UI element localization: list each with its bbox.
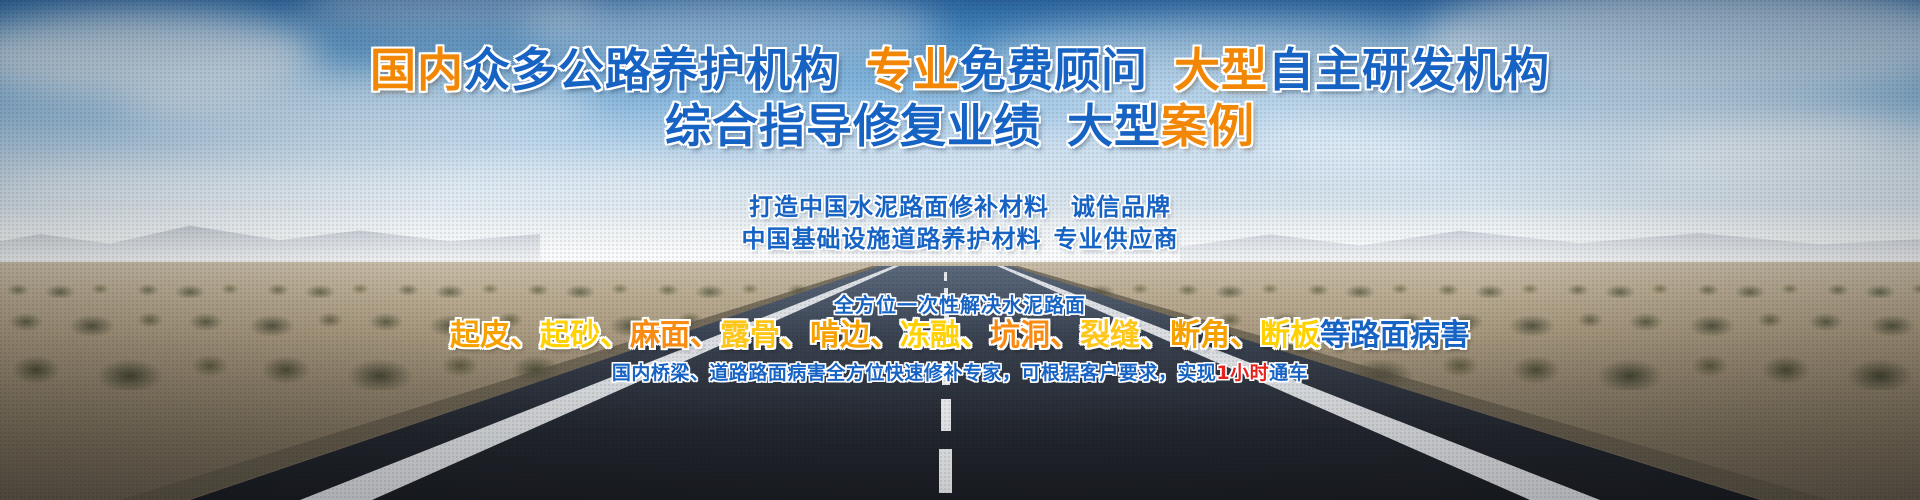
- bottom-lead-text: 全方位一次性解决水泥路面: [0, 292, 1920, 318]
- disease-token: 、: [780, 318, 810, 353]
- disease-token: 、: [510, 318, 540, 353]
- headline-line-1: 国内众多公路养护机构专业免费顾问大型自主研发机构: [0, 44, 1920, 96]
- footer-text-b: 通车: [1269, 362, 1308, 384]
- subhead-2-tail: 专业供应商: [1054, 225, 1179, 253]
- disease-token: 冻融: [900, 318, 960, 353]
- bottom-footer-text: 国内桥梁、道路路面病害全方位快速修补专家，可根据客户要求，实现1小时通车: [0, 360, 1920, 386]
- promo-banner: 国内众多公路养护机构专业免费顾问大型自主研发机构 综合指导修复业绩大型案例 打造…: [0, 0, 1920, 500]
- disease-list-items: 起皮、起砂、麻面、露骨、啃边、冻融、坑洞、裂缝、断角、断板: [450, 318, 1320, 353]
- disease-list: 起皮、起砂、麻面、露骨、啃边、冻融、坑洞、裂缝、断角、断板等路面病害: [0, 316, 1920, 356]
- headline-seg-zonghe: 综合指导修复业绩: [665, 99, 1041, 153]
- headline-seg-zizhu: 自主研发机构: [1268, 43, 1550, 97]
- disease-token: 、: [690, 318, 720, 353]
- disease-token: 啃边: [810, 318, 870, 353]
- headline-seg-zhongduo: 众多公路养护机构: [464, 43, 840, 97]
- disease-token: 断板: [1260, 318, 1320, 353]
- disease-token: 裂缝: [1080, 318, 1140, 353]
- headline-seg-daxing-2: 大型: [1067, 99, 1161, 153]
- subhead-line-1: 打造中国水泥路面修补材料诚信品牌: [0, 192, 1920, 222]
- disease-token: 起砂: [540, 318, 600, 353]
- disease-token: 、: [1140, 318, 1170, 353]
- disease-token: 、: [960, 318, 990, 353]
- headline-seg-mianfei: 免费顾问: [960, 43, 1148, 97]
- headline-line-2: 综合指导修复业绩大型案例: [0, 100, 1920, 152]
- headline-seg-zhuanye: 专业: [866, 43, 960, 97]
- disease-token: 露骨: [720, 318, 780, 353]
- headline-seg-daxing: 大型: [1174, 43, 1268, 97]
- footer-text-a: 国内桥梁、道路路面病害全方位快速修补专家，可根据客户要求，实现: [612, 362, 1217, 384]
- banner-content: 国内众多公路养护机构专业免费顾问大型自主研发机构 综合指导修复业绩大型案例 打造…: [0, 0, 1920, 500]
- disease-token: 麻面: [630, 318, 690, 353]
- disease-token: 、: [870, 318, 900, 353]
- subhead-line-2: 中国基础设施道路养护材料专业供应商: [0, 224, 1920, 254]
- subhead-2-main: 中国基础设施道路养护材料: [742, 225, 1042, 253]
- disease-token: 、: [1050, 318, 1080, 353]
- disease-token: 、: [600, 318, 630, 353]
- headline-seg-anli: 案例: [1161, 99, 1255, 153]
- subhead-1-tail: 诚信品牌: [1071, 193, 1171, 221]
- headline-seg-guonei: 国内: [370, 43, 464, 97]
- disease-list-suffix: 等路面病害: [1320, 318, 1470, 353]
- disease-token: 、: [1230, 318, 1260, 353]
- subhead-1-main: 打造中国水泥路面修补材料: [749, 193, 1049, 221]
- footer-highlight-hours: 1小时: [1216, 362, 1269, 384]
- disease-token: 坑洞: [990, 318, 1050, 353]
- disease-token: 断角: [1170, 318, 1230, 353]
- disease-token: 起皮: [450, 318, 510, 353]
